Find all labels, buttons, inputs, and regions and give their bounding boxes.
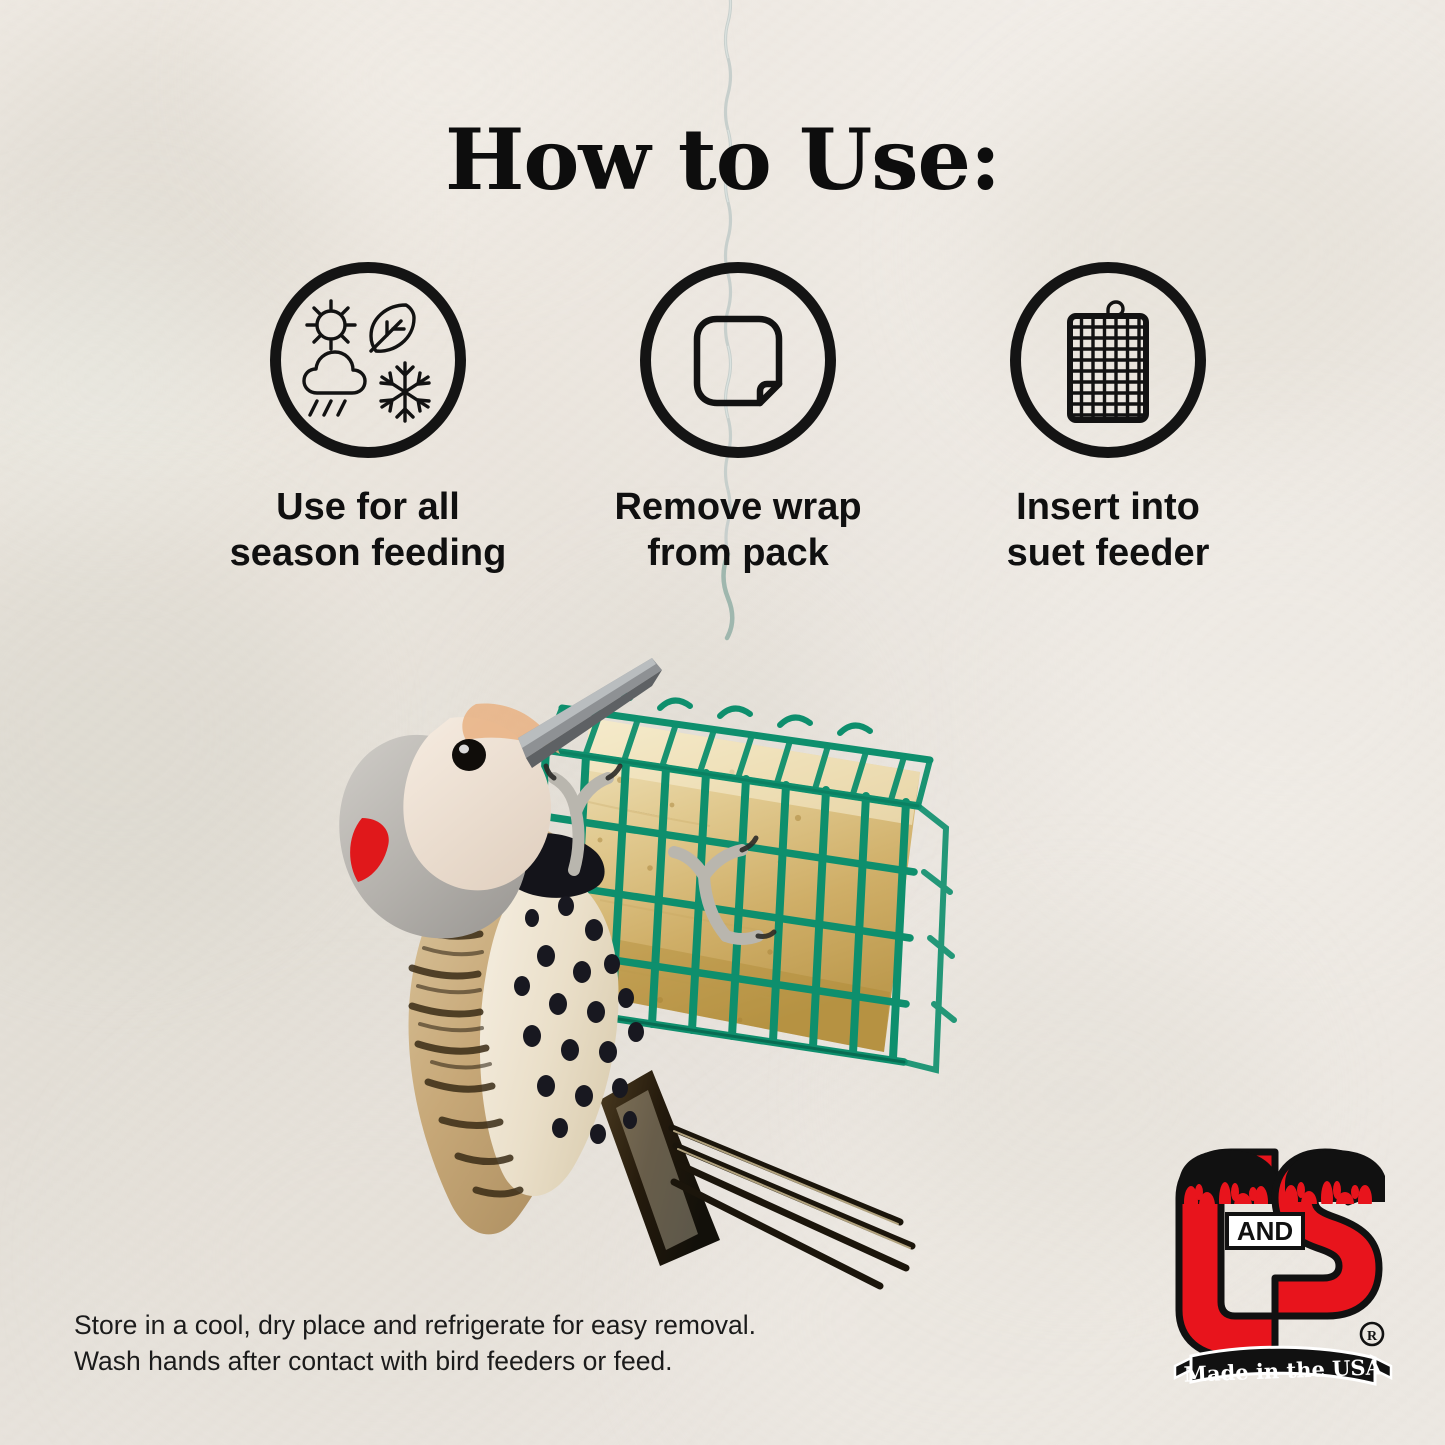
logo-and-text: AND: [1237, 1216, 1293, 1246]
registered-trademark-icon: R: [1361, 1323, 1383, 1345]
step-use-for-all-season: Use for all season feeding: [208, 262, 528, 577]
bird-eye: [452, 739, 486, 771]
logo-and-box: AND: [1227, 1214, 1303, 1248]
step-label: Remove wrap from pack: [614, 484, 861, 577]
step-label: Use for all season feeding: [230, 484, 507, 577]
step-icon-circle: [270, 262, 466, 458]
storage-instructions: Store in a cool, dry place and refrigera…: [74, 1308, 756, 1379]
bird-tail: [600, 1070, 912, 1286]
suet-feeder-cage-icon: [1042, 290, 1174, 430]
step-insert-into-suet-feeder: Insert into suet feeder: [948, 262, 1268, 577]
infographic-canvas: How to Use:: [0, 0, 1445, 1445]
step-label: Insert into suet feeder: [1007, 484, 1210, 577]
logo-letter-c: [1173, 1148, 1285, 1356]
step-icon-circle: [640, 262, 836, 458]
svg-text:R: R: [1367, 1329, 1378, 1344]
remove-wrap-icon: [673, 295, 803, 425]
all-season-weather-icon: [293, 285, 443, 435]
bird-on-suet-feeder-photo: [300, 600, 1100, 1320]
made-in-usa-banner: Made in the USA: [1175, 1347, 1391, 1387]
c-and-s-brand-logo: AND R Made in the USA: [1173, 1148, 1393, 1396]
step-remove-wrap: Remove wrap from pack: [578, 262, 898, 577]
page-title: How to Use:: [0, 118, 1445, 202]
step-icon-circle: [1010, 262, 1206, 458]
steps-row: Use for all season feeding Remove wrap f…: [208, 262, 1268, 577]
